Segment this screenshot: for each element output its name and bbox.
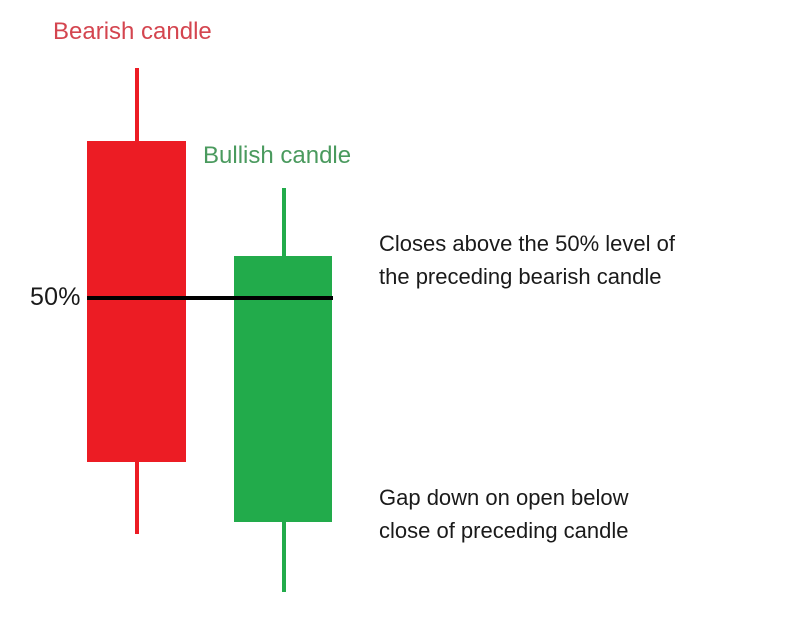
bullish-candle-label: Bullish candle — [203, 142, 351, 170]
bearish-candle-label: Bearish candle — [53, 18, 212, 46]
annotation-gap-down-on-open: Gap down on open below close of precedin… — [379, 482, 729, 547]
annotation-closes-above-line-2: the preceding bearish candle — [379, 261, 729, 294]
fifty-percent-reference-line — [87, 296, 333, 300]
annotation-closes-above-line-1: Closes above the 50% level of — [379, 228, 729, 261]
annotation-gap-down-line-2: close of preceding candle — [379, 515, 729, 548]
annotation-closes-above-fifty-percent: Closes above the 50% level of the preced… — [379, 228, 729, 293]
annotation-gap-down-line-1: Gap down on open below — [379, 482, 729, 515]
bullish-candle-lower-wick — [282, 520, 286, 592]
fifty-percent-label: 50% — [30, 283, 81, 312]
bearish-candle-body — [87, 141, 186, 462]
bullish-candle-upper-wick — [282, 188, 286, 258]
candlestick-diagram: Bearish candle Bullish candle 50% Closes… — [0, 0, 800, 624]
bearish-candle-upper-wick — [135, 68, 139, 143]
bearish-candle-lower-wick — [135, 460, 139, 534]
